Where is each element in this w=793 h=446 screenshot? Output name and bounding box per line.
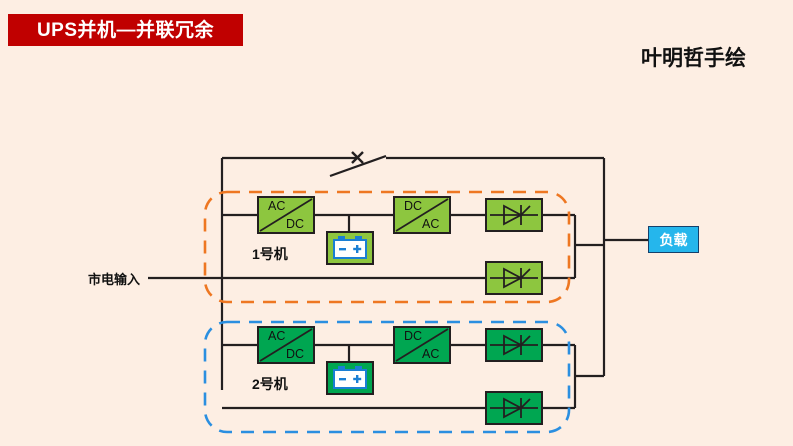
unit-1-inverter-top-label: DC — [404, 199, 422, 213]
unit-2-rectifier[interactable]: AC DC — [258, 327, 314, 363]
battery-icon — [334, 366, 366, 388]
bypass-switch[interactable] — [330, 152, 386, 176]
unit-2-inverter-thyristor[interactable] — [486, 329, 542, 361]
unit-2-battery[interactable] — [327, 362, 373, 394]
unit-1-inverter-thyristor[interactable] — [486, 199, 542, 231]
unit-1-rectifier-bottom-label: DC — [286, 217, 304, 231]
unit-1-inverter-bottom-label: AC — [422, 217, 439, 231]
unit-2-rectifier-bottom-label: DC — [286, 347, 304, 361]
load-label: 负载 — [660, 233, 688, 247]
unit-2-label: 2号机 — [252, 374, 288, 394]
unit-2-inverter-bottom-label: AC — [422, 347, 439, 361]
unit-2-rectifier-top-label: AC — [268, 329, 285, 343]
unit-2-inverter-top-label: DC — [404, 329, 422, 343]
unit-1-rectifier[interactable]: AC DC — [258, 197, 314, 233]
unit-1-inverter[interactable]: DC AC — [394, 197, 450, 233]
unit-1-bypass-thyristor[interactable] — [486, 262, 542, 294]
unit-2-bypass-thyristor[interactable] — [486, 392, 542, 424]
mains-input-label: 市电输入 — [88, 269, 140, 288]
unit-1-battery[interactable] — [327, 232, 373, 264]
circuit-diagram-canvas: AC DC DC AC — [0, 0, 793, 446]
unit-1-label: 1号机 — [252, 244, 288, 264]
unit-2-inverter[interactable]: DC AC — [394, 327, 450, 363]
load-box[interactable]: 负载 — [648, 226, 699, 253]
unit-1-rectifier-top-label: AC — [268, 199, 285, 213]
battery-icon — [334, 236, 366, 258]
load-bus-wires — [604, 158, 648, 376]
